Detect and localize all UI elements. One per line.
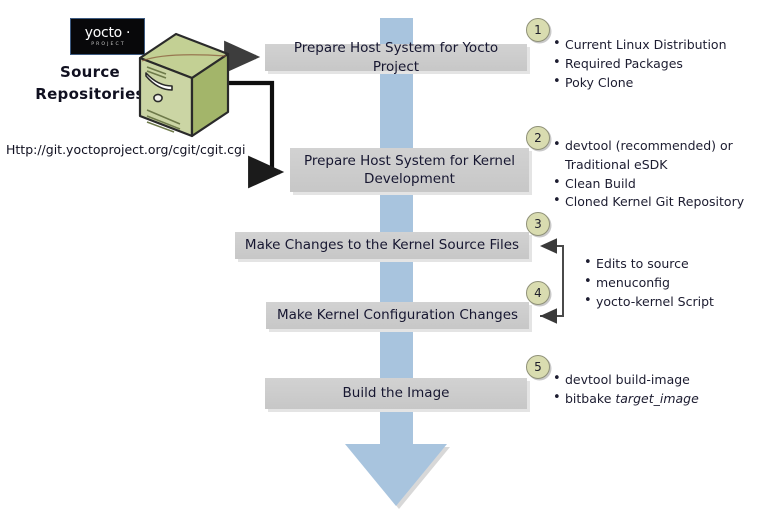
source-repositories-label: Source Repositories [30,62,150,106]
server-tower-icon [136,32,232,140]
diagram-canvas: yocto · PROJECT Source Repositories Http… [0,0,769,517]
list-item: bitbake target_image [553,390,699,408]
process-box-step-5[interactable]: Build the Image [265,378,527,409]
step-number-badge-4: 4 [526,281,550,305]
list-item: Edits to source [584,255,714,273]
list-item: menuconfig [584,274,714,292]
list-item: Required Packages [553,55,727,73]
list-item: Cloned Kernel Git Repository [553,193,744,211]
bullet-list-step-2: devtool (recommended) orTraditional eSDK… [553,137,744,212]
source-label-line-1: Source [30,62,150,84]
process-box-step-2[interactable]: Prepare Host System for Kernel Developme… [290,148,529,192]
bullet-list-step-5: devtool build-imagebitbake target_image [553,371,699,409]
list-item: Poky Clone [553,74,727,92]
step-number-badge-2: 2 [526,126,550,150]
bullet-list-step-1: Current Linux DistributionRequired Packa… [553,36,727,92]
source-label-line-2: Repositories [30,84,150,106]
list-item: Clean Build [553,175,744,193]
list-item: devtool build-image [553,371,699,389]
process-box-step-4[interactable]: Make Kernel Configuration Changes [266,302,529,329]
yocto-logo-wordmark: yocto · [85,26,130,40]
list-item: devtool (recommended) or [553,137,744,155]
connector-feedback-loop-step4-step3 [540,246,563,316]
list-item: yocto-kernel Script [584,293,714,311]
list-item-emphasis: target_image [615,391,698,406]
source-repositories-url: Http://git.yoctoproject.org/cgit/cgit.cg… [6,142,245,157]
yocto-logo-subtext: PROJECT [91,43,126,48]
process-box-step-1[interactable]: Prepare Host System for Yocto Project [265,44,527,71]
step-number-badge-3: 3 [526,212,550,236]
list-item: Traditional eSDK [553,156,744,174]
step-number-badge-5: 5 [526,355,550,379]
connector-server-to-step2 [228,83,280,172]
main-flow-arrowhead-icon [345,444,447,506]
list-item: Current Linux Distribution [553,36,727,54]
process-box-step-3[interactable]: Make Changes to the Kernel Source Files [235,232,529,259]
step-number-badge-1: 1 [526,18,550,42]
bullet-list-steps-3-4: Edits to sourcemenuconfigyocto-kernel Sc… [584,255,714,311]
yocto-project-logo: yocto · PROJECT [70,18,145,55]
